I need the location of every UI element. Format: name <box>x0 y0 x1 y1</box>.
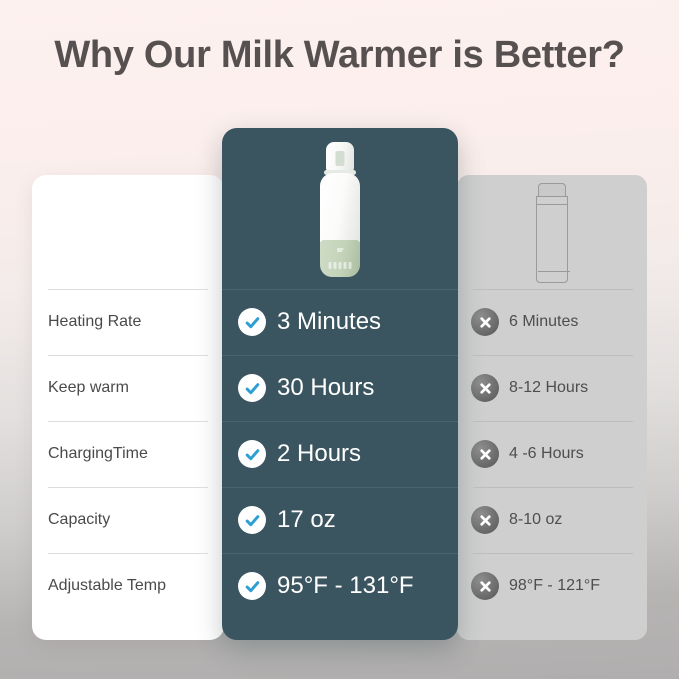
bottle-temp-unit: ° <box>342 248 344 254</box>
feature-label: ChargingTime <box>48 445 148 463</box>
check-icon <box>238 440 266 468</box>
cross-icon <box>471 506 499 534</box>
cross-icon <box>471 572 499 600</box>
bottle-temperature-display: 98° <box>320 248 360 258</box>
cross-icon <box>471 440 499 468</box>
our-product-value: 17 oz <box>277 506 336 534</box>
check-icon <box>238 572 266 600</box>
feature-label: Capacity <box>48 511 110 529</box>
thermos-lid <box>538 183 566 197</box>
thermos-body <box>536 204 568 283</box>
thermos-foot <box>538 271 570 282</box>
competitor-cell: 6 Minutes <box>471 289 651 355</box>
competitor-value: 8-10 oz <box>509 511 562 529</box>
competitor-value: 98°F - 121°F <box>509 577 600 595</box>
bottle-body: bottle <box>320 173 360 248</box>
competitor-cell: 98°F - 121°F <box>471 553 651 619</box>
feature-label-cell: Keep warm <box>48 355 224 421</box>
competitor-value: 8-12 Hours <box>509 379 588 397</box>
feature-label: Heating Rate <box>48 313 141 331</box>
our-product-cell: 30 Hours <box>238 355 462 421</box>
competitor-cell: 8-12 Hours <box>471 355 651 421</box>
feature-label-cell: ChargingTime <box>48 421 224 487</box>
cross-icon <box>471 374 499 402</box>
our-product-value: 3 Minutes <box>277 308 381 336</box>
feature-column-header <box>32 175 224 289</box>
our-product-cell: 3 Minutes <box>238 289 462 355</box>
our-product-value: 2 Hours <box>277 440 361 468</box>
cross-icon <box>471 308 499 336</box>
competitor-value: 6 Minutes <box>509 313 578 331</box>
competitor-value: 4 -6 Hours <box>509 445 584 463</box>
feature-label: Adjustable Temp <box>48 577 166 595</box>
our-product-cell: 2 Hours <box>238 421 462 487</box>
our-product-value: 95°F - 131°F <box>277 572 414 600</box>
check-icon <box>238 506 266 534</box>
bottle-indicator-bars <box>329 262 352 269</box>
feature-label: Keep warm <box>48 379 129 397</box>
competitor-cell: 4 -6 Hours <box>471 421 651 487</box>
bottle-cap <box>326 142 354 172</box>
check-icon <box>238 308 266 336</box>
our-product-value: 30 Hours <box>277 374 374 402</box>
our-product-image: bottle 98° <box>222 128 458 289</box>
comparison-table: bottle 98° Heating Rate3 Minutes6 Minute… <box>0 0 679 679</box>
feature-label-cell: Adjustable Temp <box>48 553 224 619</box>
bottle-cap-button <box>336 151 345 166</box>
competitor-image <box>457 175 647 289</box>
our-product-cell: 95°F - 131°F <box>238 553 462 619</box>
bottle-base: 98° <box>320 240 360 277</box>
competitor-cell: 8-10 oz <box>471 487 651 553</box>
check-icon <box>238 374 266 402</box>
feature-label-cell: Capacity <box>48 487 224 553</box>
milk-warmer-bottle-icon: bottle 98° <box>316 142 364 277</box>
feature-label-cell: Heating Rate <box>48 289 224 355</box>
competitor-thermos-icon <box>535 183 569 283</box>
our-product-cell: 17 oz <box>238 487 462 553</box>
